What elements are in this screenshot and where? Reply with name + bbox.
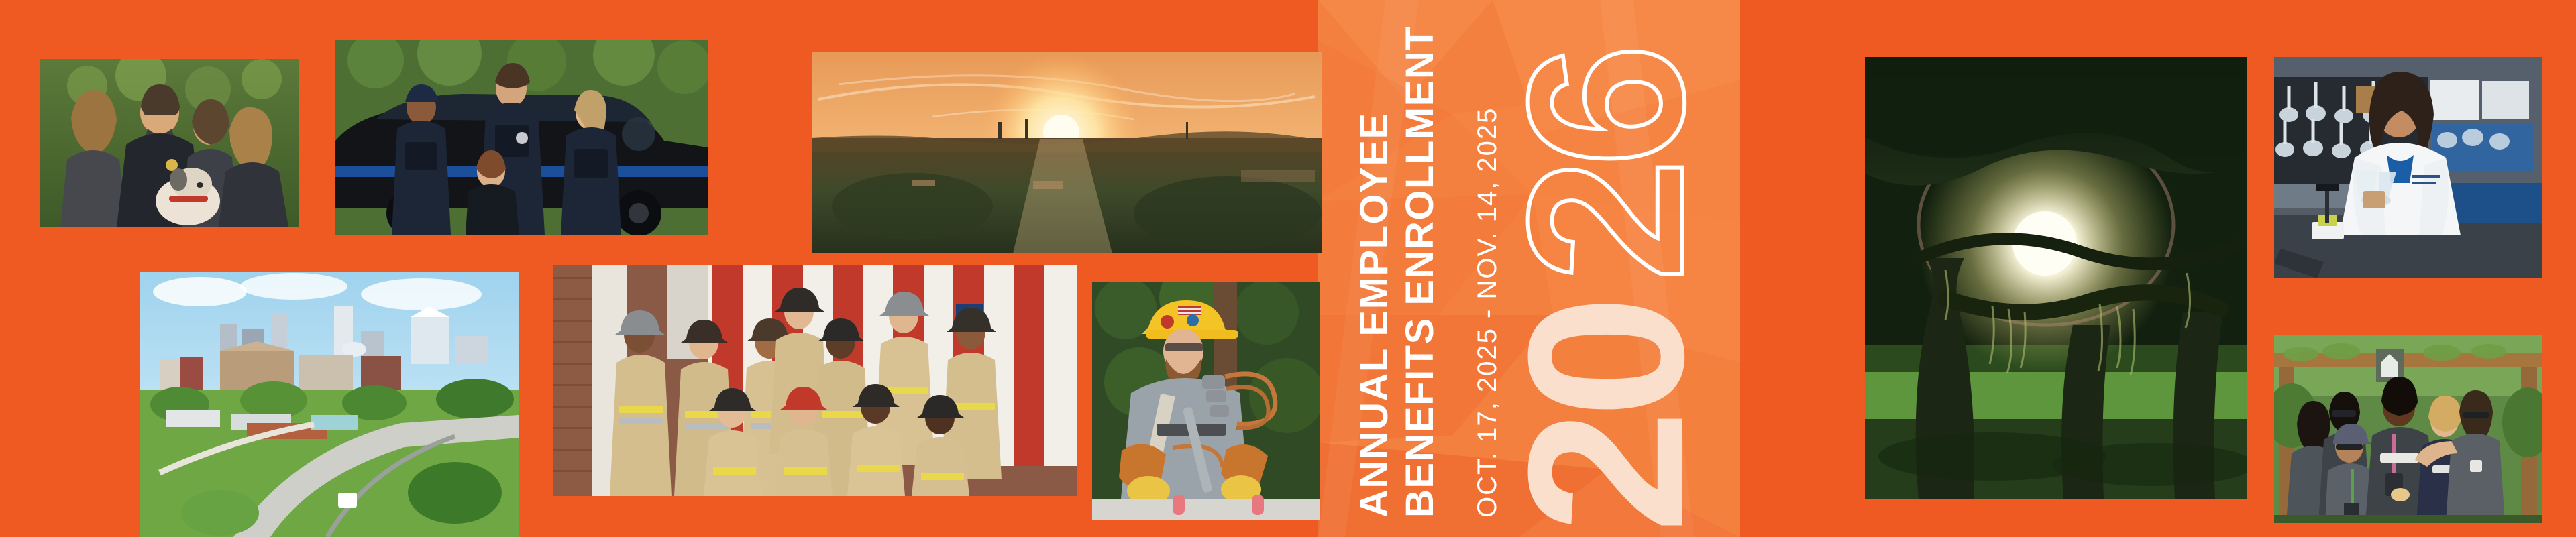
headline-line-2: BENEFITS ENROLLMENT	[1401, 25, 1440, 518]
photo-police-officers-patrol-vehicle	[335, 40, 708, 235]
photo-firefighters-group	[553, 265, 1077, 496]
year-filled-part: 20	[1519, 303, 1692, 533]
photo-community-volunteers	[2274, 335, 2542, 523]
photo-live-oaks-sunburst	[1865, 57, 2247, 499]
photo-animal-control-officers	[40, 59, 299, 227]
photo-laboratory-scientist	[2274, 57, 2542, 278]
benefits-enrollment-banner: ANNUAL EMPLOYEE BENEFITS ENROLLMENT OCT.…	[0, 0, 2576, 537]
photo-aerial-sunset-landscape	[812, 52, 1322, 253]
photo-electric-lineworker	[1092, 282, 1320, 520]
headline-line-1: ANNUAL EMPLOYEE	[1355, 112, 1394, 518]
center-graphic-panel: ANNUAL EMPLOYEE BENEFITS ENROLLMENT OCT.…	[1318, 0, 1740, 537]
photo-downtown-skyline-park	[140, 272, 519, 537]
year-outlined-part: 26	[1519, 52, 1692, 282]
